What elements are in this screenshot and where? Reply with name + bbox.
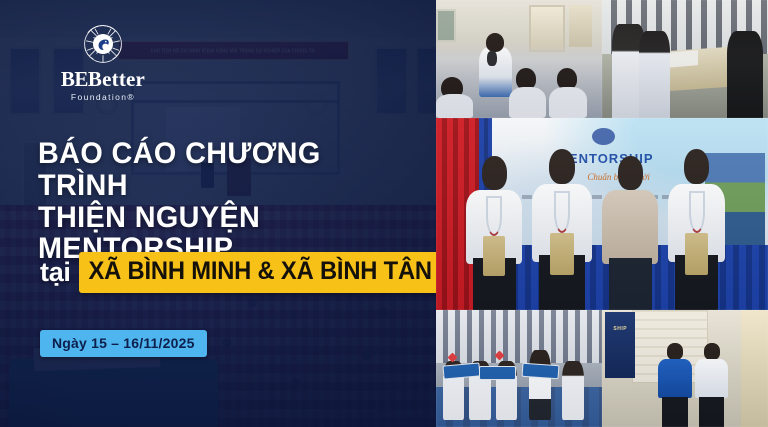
student-head bbox=[486, 33, 504, 52]
person-head bbox=[704, 343, 720, 360]
student-in-white-shirt bbox=[695, 343, 728, 427]
headline-line-1: BÁO CÁO CHƯƠNG TRÌNH bbox=[38, 137, 321, 202]
student-in-blue-shirt bbox=[658, 343, 691, 427]
person-trousers bbox=[699, 397, 724, 427]
award-plaque-icon bbox=[685, 233, 708, 275]
brand-tagline: Foundation® bbox=[71, 92, 135, 102]
person-head bbox=[549, 149, 575, 184]
person-trousers bbox=[662, 397, 687, 427]
left-panel-content: BEBetter Foundation® BÁO CÁO CHƯƠNG TRÌN… bbox=[0, 0, 436, 427]
poster-canvas: CHỦ TỊCH HỒ CHÍ MINH VĨ ĐẠI SỐNG MÃI TRO… bbox=[0, 0, 768, 427]
person-shirt bbox=[602, 190, 658, 264]
held-sign bbox=[442, 362, 480, 379]
person-head bbox=[482, 156, 507, 190]
photo-row-bottom: SHIP bbox=[436, 310, 768, 427]
rollup-banner-text: SHIP bbox=[605, 326, 635, 332]
brand-wordmark: BEBetter bbox=[61, 69, 145, 90]
person-shirt bbox=[695, 359, 728, 398]
mentor-standing bbox=[727, 31, 764, 118]
medal-ribbon-icon bbox=[486, 196, 502, 236]
student-seated bbox=[529, 350, 551, 420]
awardee-person bbox=[668, 149, 724, 310]
photo-students-group-worktable bbox=[602, 0, 768, 118]
page-title: BÁO CÁO CHƯƠNG TRÌNH THIỆN NGUYỆN MENTOR… bbox=[38, 138, 430, 265]
right-photo-panel: MENTORSHIP Chuẩn bị vào đời bbox=[436, 0, 768, 427]
person-head bbox=[684, 149, 709, 184]
brand-name-part1: BE bbox=[61, 67, 88, 91]
presenter-person bbox=[602, 156, 658, 310]
brand-logo-block: BEBetter Foundation® bbox=[55, 24, 151, 102]
award-plaque-icon bbox=[483, 236, 506, 276]
person-head bbox=[618, 156, 643, 190]
student-body bbox=[436, 94, 473, 118]
location-badge: XÃ BÌNH MINH & XÃ BÌNH TÂN bbox=[79, 252, 436, 293]
location-prefix: tại bbox=[40, 257, 71, 288]
person-shirt bbox=[658, 359, 691, 398]
classroom-window bbox=[569, 5, 592, 47]
photo-row-top bbox=[436, 0, 768, 118]
microphone-icon bbox=[487, 51, 497, 66]
classroom-board bbox=[436, 9, 456, 42]
date-badge: Ngày 15 – 16/11/2025 bbox=[40, 330, 207, 357]
student-standing bbox=[639, 31, 671, 118]
photo-award-ceremony-stage: MENTORSHIP Chuẩn bị vào đời bbox=[436, 118, 768, 310]
photo-classroom-student-microphone bbox=[436, 0, 602, 118]
rollup-banner bbox=[605, 312, 635, 378]
student-body bbox=[509, 87, 546, 118]
medal-ribbon-icon bbox=[689, 191, 705, 233]
photo-students-holding-signs bbox=[436, 310, 602, 427]
medal-ribbon-icon bbox=[554, 191, 571, 233]
person-head bbox=[667, 343, 683, 360]
location-row: tại XÃ BÌNH MINH & XÃ BÌNH TÂN bbox=[40, 252, 436, 293]
awardee-person bbox=[532, 149, 592, 310]
backdrop-logo-icon bbox=[592, 128, 615, 145]
held-sign bbox=[479, 366, 516, 380]
brand-name-part2: Better bbox=[88, 67, 145, 91]
building-pillar bbox=[741, 310, 768, 427]
student-body bbox=[549, 87, 587, 118]
person-trousers bbox=[609, 258, 652, 310]
award-plaque-icon bbox=[550, 233, 574, 275]
awardee-person bbox=[466, 156, 522, 310]
held-sign bbox=[522, 363, 559, 380]
photo-two-students-outdoor: SHIP bbox=[602, 310, 768, 427]
student-seated bbox=[562, 361, 584, 420]
bebetter-dove-circle-logo-icon bbox=[83, 24, 123, 64]
background-crowd bbox=[436, 310, 602, 363]
left-title-panel: CHỦ TỊCH HỒ CHÍ MINH VĨ ĐẠI SỐNG MÃI TRO… bbox=[0, 0, 436, 427]
